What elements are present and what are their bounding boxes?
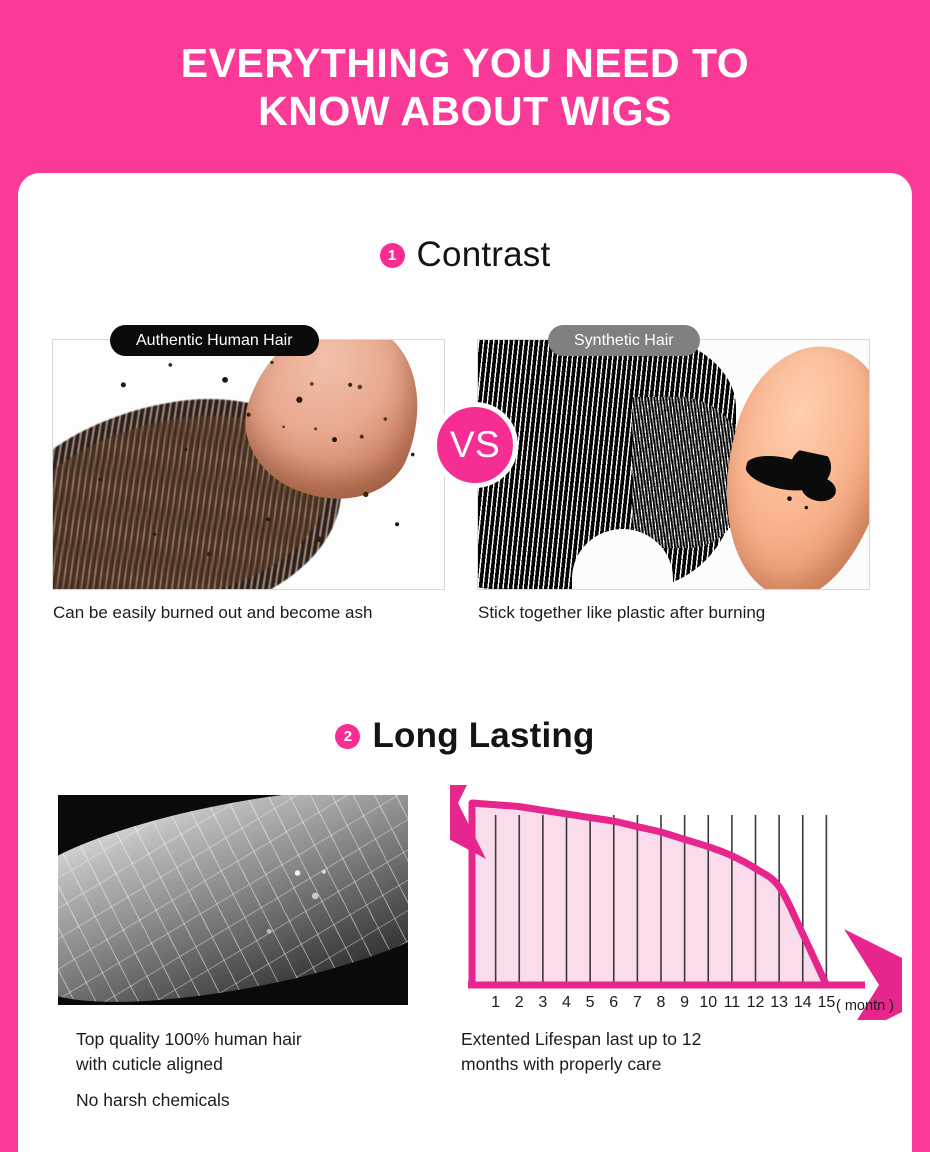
x-tick-label: 10 [699,994,717,1011]
melted-synthetic-hair-image [477,339,870,590]
section-2-heading: 2 Long Lasting [18,716,912,756]
header-banner: EVERYTHING YOU NEED TO KNOW ABOUT WIGS [0,0,930,173]
x-tick-label: 13 [770,994,788,1011]
caption-left: Can be easily burned out and become ash [53,601,372,624]
x-tick-label: 11 [724,994,741,1011]
x-tick-label: 15 [817,994,835,1011]
comparison-panel-left [52,339,445,590]
caption-right: Stick together like plastic after burnin… [478,601,765,624]
hair-shaft-shape [58,795,408,1005]
caption-lifespan: Extented Lifespan last up to 12 months w… [461,1027,701,1077]
section-2-number-badge: 2 [335,724,360,749]
burned-human-hair-image [52,339,445,590]
x-tick-label: 7 [633,994,642,1011]
long-lasting-block: 123456789101112131415 ( montn ) Top qual… [18,785,912,1145]
surface-specks-pattern [58,795,408,1005]
section-1-number-badge: 1 [380,243,405,268]
infographic-page: EVERYTHING YOU NEED TO KNOW ABOUT WIGS 1… [0,0,930,1152]
comparison-block: Authentic Human Hair Synthetic Hair VS C… [18,325,912,625]
ash-particles-shape [53,340,444,589]
page-title: EVERYTHING YOU NEED TO KNOW ABOUT WIGS [181,39,749,135]
x-tick-label: 8 [657,994,666,1011]
x-tick-label: 9 [680,994,689,1011]
caption-cuticle: Top quality 100% human hair with cuticle… [76,1027,302,1077]
caption-no-chemicals: No harsh chemicals [76,1088,230,1113]
x-axis-tick-labels: 123456789101112131415 [491,994,835,1011]
x-tick-label: 1 [491,994,500,1011]
x-tick-label: 14 [794,994,812,1011]
x-axis-unit-label: ( montn ) [836,998,894,1014]
x-tick-label: 5 [586,994,595,1011]
vs-badge: VS [432,402,518,488]
comparison-panel-right [477,339,870,590]
x-tick-label: 4 [562,994,571,1011]
x-tick-label: 12 [747,994,765,1011]
x-tick-label: 2 [515,994,524,1011]
lifespan-chart: 123456789101112131415 ( montn ) [450,785,902,1020]
section-1-title: Contrast [417,235,551,275]
section-2-title: Long Lasting [372,716,594,756]
hair-cuticle-microscope-image [58,795,408,1005]
x-tick-label: 6 [609,994,618,1011]
x-tick-label: 3 [538,994,547,1011]
content-card: 1 Contrast Authentic Human Hair [18,173,912,1152]
synthetic-hair-pill-label: Synthetic Hair [548,325,700,356]
authentic-hair-pill-label: Authentic Human Hair [110,325,319,356]
section-1-heading: 1 Contrast [18,235,912,275]
lifespan-chart-svg: 123456789101112131415 ( montn ) [450,785,902,1020]
